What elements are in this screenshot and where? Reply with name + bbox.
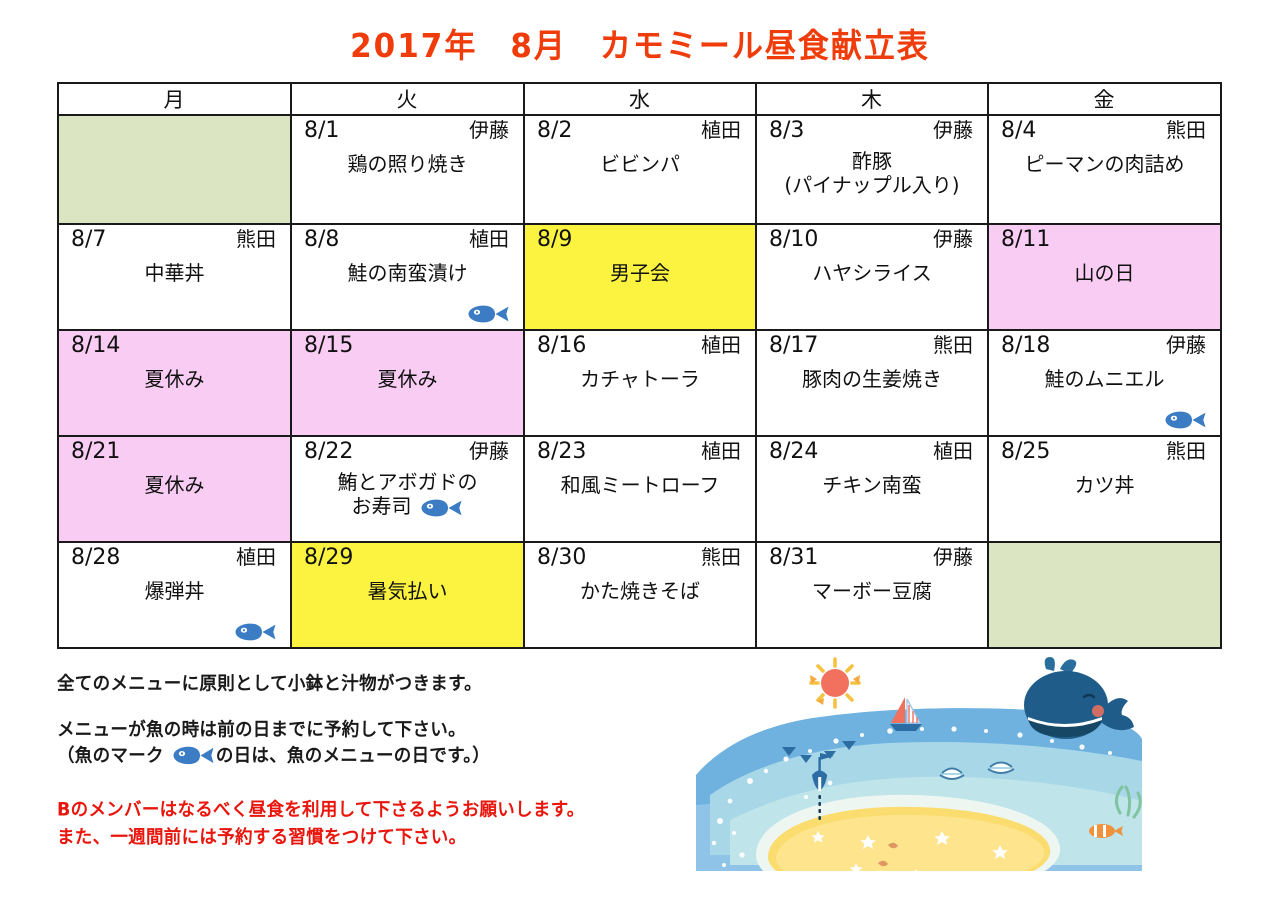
cell-header: 8/10伊藤 (757, 225, 987, 253)
calendar-week-row: 8/21夏休み8/22伊藤鮪とアボガドのお寿司8/23植田和風ミートローフ8/2… (58, 436, 1221, 542)
fish-icon (465, 305, 511, 323)
cell-header: 8/8植田 (292, 225, 523, 253)
cell-cook-name: 熊田 (1166, 440, 1206, 462)
calendar-cell-8-7[interactable]: 8/7熊田中華丼 (58, 224, 291, 330)
cell-header: 8/18伊藤 (989, 331, 1220, 359)
cell-menu: ビビンパ (525, 144, 755, 176)
cell-date: 8/2 (537, 119, 572, 144)
cell-cook-name: 熊田 (701, 546, 741, 568)
cell-date: 8/7 (71, 228, 106, 253)
calendar-cell-8-3[interactable]: 8/3伊藤酢豚 (パイナップル入り) (756, 115, 988, 224)
cell-cook-name: 植田 (933, 440, 973, 462)
calendar-cell-8-25[interactable]: 8/25熊田カツ丼 (988, 436, 1221, 542)
cell-menu: 爆弾丼 (59, 571, 290, 603)
calendar-cell-8-21[interactable]: 8/21夏休み (58, 436, 291, 542)
cell-menu: 暑気払い (292, 571, 523, 603)
calendar-cell-empty-0-0[interactable] (58, 115, 291, 224)
cell-menu: カツ丼 (989, 465, 1220, 497)
cell-header: 8/30熊田 (525, 543, 755, 571)
cell-header: 8/1伊藤 (292, 116, 523, 144)
cell-date: 8/23 (537, 440, 586, 465)
note-side-dishes: 全てのメニューに原則として小鉢と汁物がつきます。 (57, 672, 717, 698)
calendar-body: 8/1伊藤鶏の照り焼き8/2植田ビビンパ8/3伊藤酢豚 (パイナップル入り)8/… (58, 115, 1221, 648)
cell-header: 8/17熊田 (757, 331, 987, 359)
cell-date: 8/28 (71, 546, 120, 571)
calendar-cell-8-29[interactable]: 8/29暑気払い (291, 542, 524, 648)
cell-date: 8/9 (537, 228, 572, 253)
cell-date: 8/1 (304, 119, 339, 144)
calendar-cell-8-11[interactable]: 8/11山の日 (988, 224, 1221, 330)
sun-icon (810, 659, 860, 707)
calendar-week-row: 8/1伊藤鶏の照り焼き8/2植田ビビンパ8/3伊藤酢豚 (パイナップル入り)8/… (58, 115, 1221, 224)
cell-date: 8/16 (537, 334, 586, 359)
cell-date: 8/10 (769, 228, 818, 253)
whale-icon (1024, 657, 1134, 739)
calendar-cell-empty-4-4[interactable] (988, 542, 1221, 648)
note-b-members: Bのメンバーはなるべく昼食を利用して下さるようお願いします。 また、一週間前には… (57, 797, 717, 852)
cell-date: 8/4 (1001, 119, 1036, 144)
cell-header: 8/15 (292, 331, 523, 359)
cell-date: 8/29 (304, 546, 353, 571)
column-header-monday: 月 (58, 83, 291, 115)
cell-header: 8/21 (59, 437, 290, 465)
cell-date: 8/17 (769, 334, 818, 359)
cell-menu: マーボー豆腐 (757, 571, 987, 603)
cell-menu: 豚肉の生姜焼き (757, 359, 987, 391)
cell-cook-name: 熊田 (933, 334, 973, 356)
column-header-thursday: 木 (756, 83, 988, 115)
cell-cook-name: 熊田 (1166, 119, 1206, 141)
cell-menu: 和風ミートローフ (525, 465, 755, 497)
cell-menu: 鮭の南蛮漬け (292, 253, 523, 285)
cell-cook-name: 伊藤 (933, 546, 973, 568)
cell-date: 8/25 (1001, 440, 1050, 465)
cell-date: 8/22 (304, 440, 353, 465)
cell-menu: ピーマンの肉詰め (989, 144, 1220, 176)
notes-section: 全てのメニューに原則として小鉢と汁物がつきます。 メニューが魚の時は前の日までに… (57, 672, 717, 850)
cell-menu: 鶏の照り焼き (292, 144, 523, 176)
cell-header: 8/16植田 (525, 331, 755, 359)
column-header-tuesday: 火 (291, 83, 524, 115)
calendar-cell-8-8[interactable]: 8/8植田鮭の南蛮漬け (291, 224, 524, 330)
cell-date: 8/30 (537, 546, 586, 571)
calendar-cell-8-9[interactable]: 8/9男子会 (524, 224, 756, 330)
calendar-header-row: 月 火 水 木 金 (58, 83, 1221, 115)
calendar-cell-8-24[interactable]: 8/24植田チキン南蛮 (756, 436, 988, 542)
calendar-cell-8-23[interactable]: 8/23植田和風ミートローフ (524, 436, 756, 542)
cell-menu: かた焼きそば (525, 571, 755, 603)
cell-header: 8/7熊田 (59, 225, 290, 253)
cell-menu: 夏休み (292, 359, 523, 391)
cell-date: 8/15 (304, 334, 353, 359)
cell-date: 8/21 (71, 440, 120, 465)
cell-date: 8/11 (1001, 228, 1050, 253)
page-title: 2017年 8月 カモミール昼食献立表 (350, 19, 930, 67)
cell-menu: カチャトーラ (525, 359, 755, 391)
cell-date: 8/31 (769, 546, 818, 571)
cell-header: 8/11 (989, 225, 1220, 253)
cell-menu: ハヤシライス (757, 253, 987, 285)
cell-cook-name: 植田 (469, 228, 509, 250)
cell-cook-name: 熊田 (236, 228, 276, 250)
cell-cook-name: 植田 (701, 440, 741, 462)
cell-header: 8/3伊藤 (757, 116, 987, 144)
cell-date: 8/18 (1001, 334, 1050, 359)
calendar-cell-8-16[interactable]: 8/16植田カチャトーラ (524, 330, 756, 436)
calendar-cell-8-4[interactable]: 8/4熊田ピーマンの肉詰め (988, 115, 1221, 224)
cell-cook-name: 伊藤 (469, 440, 509, 462)
cell-menu: 鮭のムニエル (989, 359, 1220, 391)
fish-icon (232, 623, 278, 641)
calendar-cell-8-18[interactable]: 8/18伊藤鮭のムニエル (988, 330, 1221, 436)
calendar-cell-8-15[interactable]: 8/15夏休み (291, 330, 524, 436)
cell-header: 8/2植田 (525, 116, 755, 144)
cell-header: 8/29 (292, 543, 523, 571)
calendar-cell-8-17[interactable]: 8/17熊田豚肉の生姜焼き (756, 330, 988, 436)
title-bar: 2017年 8月 カモミール昼食献立表 (0, 20, 1280, 65)
cell-header: 8/24植田 (757, 437, 987, 465)
cell-menu: 夏休み (59, 359, 290, 391)
calendar-cell-8-31[interactable]: 8/31伊藤マーボー豆腐 (756, 542, 988, 648)
cell-cook-name: 植田 (701, 334, 741, 356)
note-fish-reservation: メニューが魚の時は前の日までに予約して下さい。 （魚のマーク の日は、魚のメニュ… (57, 718, 717, 771)
note-fish-prefix: （魚のマーク (57, 747, 164, 768)
calendar-cell-8-22[interactable]: 8/22伊藤鮪とアボガドのお寿司 (291, 436, 524, 542)
cell-header: 8/31伊藤 (757, 543, 987, 571)
cell-cook-name: 伊藤 (469, 119, 509, 141)
cell-menu: 酢豚 (パイナップル入り) (757, 144, 987, 198)
calendar-cell-8-28[interactable]: 8/28植田爆弾丼 (58, 542, 291, 648)
fish-icon (418, 498, 464, 516)
column-header-wednesday: 水 (524, 83, 756, 115)
column-header-friday: 金 (988, 83, 1221, 115)
fish-icon (170, 747, 216, 766)
calendar-cell-8-1[interactable]: 8/1伊藤鶏の照り焼き (291, 115, 524, 224)
cell-menu: 山の日 (989, 253, 1220, 285)
calendar-week-row: 8/28植田爆弾丼8/29暑気払い8/30熊田かた焼きそば8/31伊藤マーボー豆… (58, 542, 1221, 648)
note-fish-suffix: の日は、魚のメニューの日です。） (216, 747, 490, 768)
calendar-cell-8-10[interactable]: 8/10伊藤ハヤシライス (756, 224, 988, 330)
cell-header: 8/4熊田 (989, 116, 1220, 144)
cell-header: 8/9 (525, 225, 755, 253)
cell-header: 8/25熊田 (989, 437, 1220, 465)
cell-date: 8/24 (769, 440, 818, 465)
cell-cook-name: 植田 (236, 546, 276, 568)
calendar-week-row: 8/7熊田中華丼8/8植田鮭の南蛮漬け8/9男子会8/10伊藤ハヤシライス8/1… (58, 224, 1221, 330)
cell-menu: チキン南蛮 (757, 465, 987, 497)
menu-calendar: 月 火 水 木 金 8/1伊藤鶏の照り焼き8/2植田ビビンパ8/3伊藤酢豚 (パ… (57, 82, 1222, 649)
cell-menu: 夏休み (59, 465, 290, 497)
cell-cook-name: 伊藤 (1166, 334, 1206, 356)
cell-cook-name: 伊藤 (933, 228, 973, 250)
cell-header: 8/28植田 (59, 543, 290, 571)
cell-date: 8/8 (304, 228, 339, 253)
calendar-cell-8-2[interactable]: 8/2植田ビビンパ (524, 115, 756, 224)
cell-menu: 男子会 (525, 253, 755, 285)
cell-cook-name: 植田 (701, 119, 741, 141)
calendar-cell-8-30[interactable]: 8/30熊田かた焼きそば (524, 542, 756, 648)
cell-menu-line: お寿司 (296, 494, 519, 518)
cell-header: 8/23植田 (525, 437, 755, 465)
calendar-week-row: 8/14夏休み8/15夏休み8/16植田カチャトーラ8/17熊田豚肉の生姜焼き8… (58, 330, 1221, 436)
cell-menu: 鮪とアボガドのお寿司 (292, 465, 523, 519)
summer-beach-illustration (690, 655, 1142, 895)
cell-menu-line: 鮪とアボガドの (296, 470, 519, 494)
fish-icon (1162, 411, 1208, 429)
cell-header: 8/14 (59, 331, 290, 359)
calendar-cell-8-14[interactable]: 8/14夏休み (58, 330, 291, 436)
cell-menu: 中華丼 (59, 253, 290, 285)
cell-date: 8/14 (71, 334, 120, 359)
cell-header: 8/22伊藤 (292, 437, 523, 465)
cell-date: 8/3 (769, 119, 804, 144)
cell-cook-name: 伊藤 (933, 119, 973, 141)
